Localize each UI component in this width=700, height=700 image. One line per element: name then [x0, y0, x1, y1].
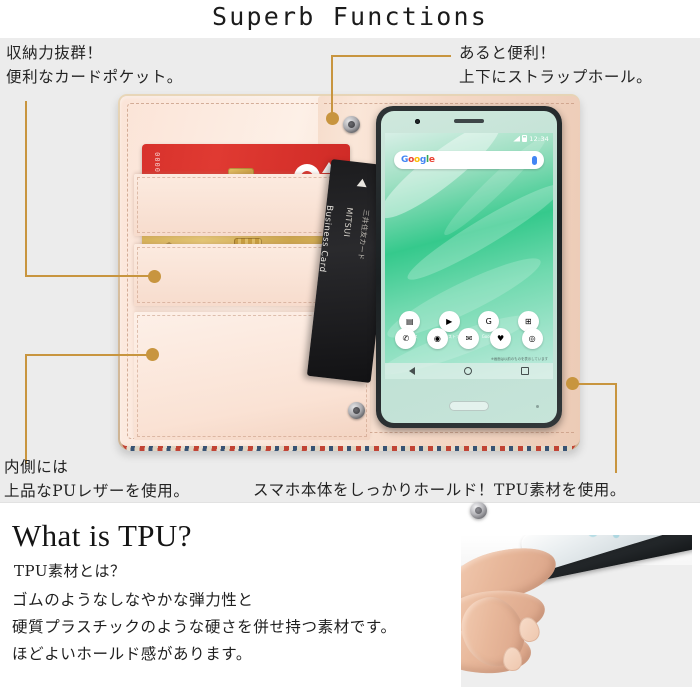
card-red-number: 0000	[154, 151, 162, 172]
annotation-strap-hole-line1: あると便利！	[459, 41, 652, 65]
tpu-description: ゴムのようなしなやかな弾力性と 硬質プラスチックのような硬さを併せ持つ素材です。…	[12, 587, 397, 668]
leader-line-strap-vertical	[331, 55, 333, 117]
status-bar-time: 12:34	[529, 135, 549, 143]
strap-hole-bottom-icon	[348, 402, 365, 419]
physical-home-button[interactable]	[449, 401, 489, 411]
earpiece-icon	[454, 119, 484, 123]
snap-button-icon	[470, 502, 487, 519]
tpu-flex-photo	[461, 535, 692, 687]
signal-icon	[513, 136, 520, 142]
tpu-title: What is TPU?	[12, 518, 192, 554]
infographic-page: Superb Functions 収納力抜群！ 便利なカードポケット。 あると便…	[0, 0, 700, 700]
top-section: Superb Functions 収納力抜群！ 便利なカードポケット。 あると便…	[0, 0, 700, 503]
battery-icon	[522, 135, 527, 142]
tpu-description-line1: ゴムのようなしなやかな弾力性と	[12, 587, 397, 614]
leader-line-pocket-vertical	[25, 101, 27, 277]
app-dock: ✆ ◉ ✉ ♥ ◎	[390, 328, 548, 349]
front-camera-icon	[415, 119, 420, 124]
app-icon-camera[interactable]: ◎	[522, 328, 543, 349]
card-black-sub: MITSUI	[342, 207, 354, 238]
leader-line-pocket-horizontal	[25, 275, 155, 277]
app-icon-phone[interactable]: ✆	[395, 328, 416, 349]
android-nav-bar	[385, 363, 553, 379]
annotation-strap-hole: あると便利！ 上下にストラップホール。	[459, 41, 652, 89]
annotation-pu-leather-line1: 内側には	[4, 455, 189, 479]
case-stitch-top	[324, 103, 574, 104]
app-icon-chrome[interactable]: ◉	[427, 328, 448, 349]
leader-line-hold-horizontal	[573, 383, 617, 385]
leader-dot-strap	[326, 112, 339, 125]
home-button-icon[interactable]	[464, 367, 472, 375]
google-logo: Google	[401, 155, 435, 165]
app-icon-messages[interactable]: ✉	[458, 328, 479, 349]
strap-hole-top-icon	[343, 116, 360, 133]
leader-line-inner-horizontal	[25, 354, 153, 356]
screen-disclaimer: ※画面は以前のものを表示しています	[491, 356, 548, 361]
leader-dot-hold	[566, 377, 579, 390]
tpu-description-line3: ほどよいホールド感があります。	[12, 641, 397, 668]
annotation-strap-hole-line2: 上下にストラップホール。	[459, 65, 652, 89]
status-bar: 12:34	[385, 133, 553, 144]
annotation-pu-leather-line2: 上品なPUレザーを使用。	[4, 479, 189, 503]
annotation-card-pocket-line1: 収納力抜群！	[6, 41, 183, 65]
smartphone-body: 12:34 Google ▤ サービス ▶	[381, 111, 557, 423]
leader-line-strap-horizontal	[331, 55, 451, 57]
leader-dot-inner	[146, 348, 159, 361]
app-icon-favorites[interactable]: ♥	[490, 328, 511, 349]
leader-dot-pocket	[148, 270, 161, 283]
sensor-dot-icon	[536, 405, 539, 408]
google-search-bar[interactable]: Google	[394, 151, 544, 169]
product-photo-wallet-case: 0000	[118, 92, 580, 452]
annotation-card-pocket-line2: 便利なカードポケット。	[6, 65, 183, 89]
page-title: Superb Functions	[0, 2, 700, 31]
annotation-tpu-hold: スマホ本体をしっかりホールド！TPU素材を使用。	[253, 478, 626, 502]
mic-icon[interactable]	[532, 156, 537, 165]
tpu-subtitle: TPU素材とは？	[14, 560, 125, 581]
tpu-description-line2: 硬質プラスチックのような硬さを併せ持つ素材です。	[12, 614, 397, 641]
phone-screen: 12:34 Google ▤ サービス ▶	[385, 133, 553, 379]
card-black-sub2: 三井住友カード	[355, 209, 371, 261]
bottom-section: What is TPU? TPU素材とは？ ゴムのようなしなやかな弾力性と 硬質…	[0, 503, 700, 700]
leader-line-inner-vertical	[25, 354, 27, 464]
recent-apps-icon[interactable]	[521, 367, 529, 375]
card-black-triangle-icon	[357, 178, 368, 187]
annotation-pu-leather: 内側には 上品なPUレザーを使用。	[4, 455, 189, 503]
annotation-card-pocket: 収納力抜群！ 便利なカードポケット。	[6, 41, 183, 89]
back-button-icon[interactable]	[409, 367, 415, 375]
smartphone: 12:34 Google ▤ サービス ▶	[376, 106, 562, 428]
leader-line-hold-vertical	[615, 383, 617, 473]
